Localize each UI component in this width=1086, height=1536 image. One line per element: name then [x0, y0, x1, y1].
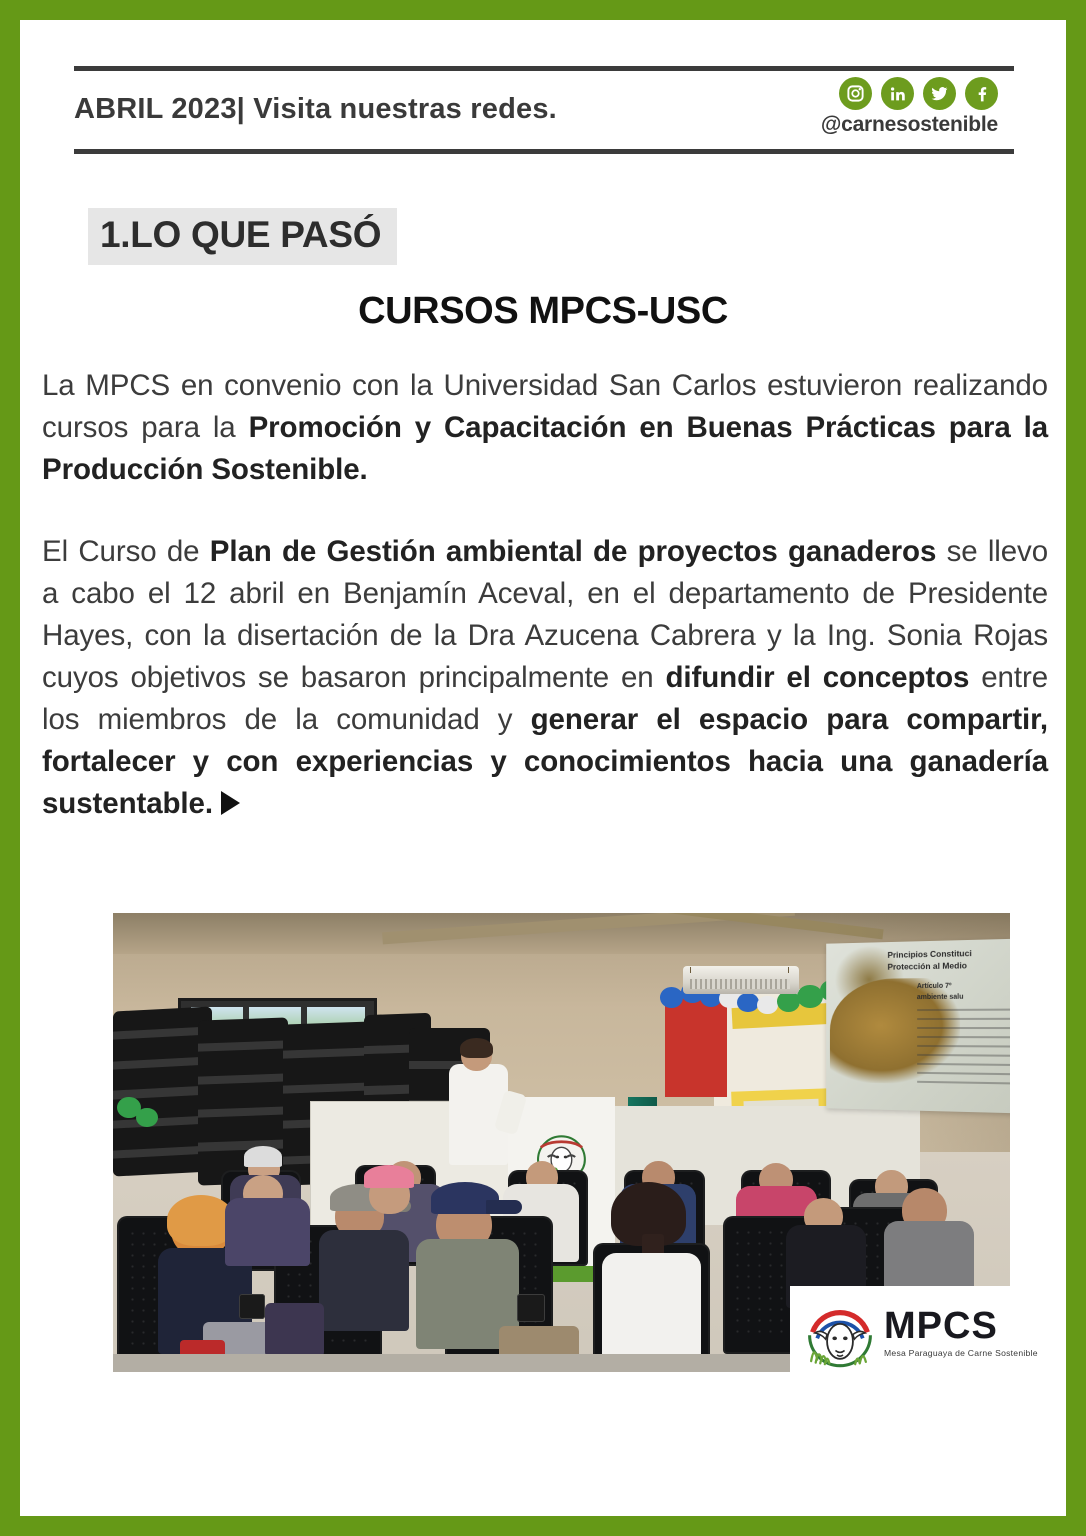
paragraph-2: El Curso de Plan de Gestión ambiental de…: [42, 531, 1048, 825]
facebook-icon[interactable]: [965, 77, 998, 110]
article-title: CURSOS MPCS-USC: [20, 290, 1066, 333]
article-body: La MPCS en convenio con la Universidad S…: [42, 365, 1048, 865]
paragraph-1: La MPCS en convenio con la Universidad S…: [42, 365, 1048, 491]
p2-bold-1: Plan de Gestión ambiental de proyectos g…: [210, 535, 937, 568]
p2-bold-2: difundir el conceptos: [666, 661, 970, 694]
social-handle[interactable]: @carnesostenible: [821, 113, 998, 137]
screen-line-3: Artículo 7º: [916, 983, 951, 990]
p2-text-1: El Curso de: [42, 535, 210, 568]
social-icon-row: [821, 77, 998, 110]
stacked-chairs-1: [113, 1007, 212, 1177]
page-content: ABRIL 2023| Visita nuestras redes.: [20, 20, 1066, 1516]
newsletter-page: ABRIL 2023| Visita nuestras redes.: [0, 0, 1086, 1536]
page-title: ABRIL 2023| Visita nuestras redes.: [74, 93, 557, 126]
screen-line-4: ambiente salu: [916, 993, 963, 1000]
twitter-icon[interactable]: [923, 77, 956, 110]
mpcs-logo-word: MPCS: [884, 1307, 1038, 1345]
play-triangle-icon: [221, 791, 240, 815]
header-rule-bottom: [74, 149, 1014, 154]
mpcs-logo-text: MPCS Mesa Paraguaya de Carne Sostenible: [884, 1307, 1038, 1358]
instagram-icon[interactable]: [839, 77, 872, 110]
page-header: ABRIL 2023| Visita nuestras redes.: [74, 66, 1014, 154]
header-tagline: Visita nuestras redes.: [245, 93, 557, 125]
linkedin-icon[interactable]: [881, 77, 914, 110]
mpcs-logo-overlay: MPCS Mesa Paraguaya de Carne Sostenible: [790, 1286, 1026, 1379]
screen-line-2: Protección al Medio: [887, 960, 967, 971]
photo-presenter-hair: [460, 1038, 493, 1058]
header-body: ABRIL 2023| Visita nuestras redes.: [74, 71, 1014, 149]
section-label: 1.LO QUE PASÓ: [88, 208, 397, 265]
mpcs-logo-mark: [802, 1297, 878, 1369]
mpcs-logo-tagline: Mesa Paraguaya de Carne Sostenible: [884, 1348, 1038, 1358]
photo-ac-unit: [683, 966, 800, 994]
photo-projection-screen: Principios Constituci Protección al Medi…: [826, 938, 1010, 1114]
issue-month: ABRIL 2023|: [74, 93, 245, 125]
social-block: @carnesostenible: [821, 77, 998, 137]
screen-line-1: Principios Constituci: [887, 948, 971, 960]
